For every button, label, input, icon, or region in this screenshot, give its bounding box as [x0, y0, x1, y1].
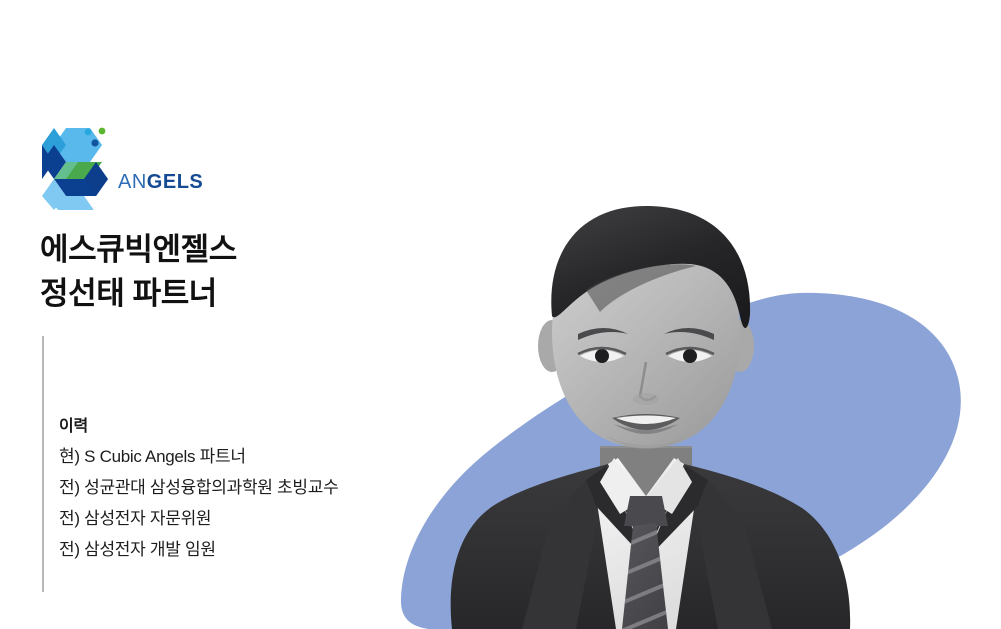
title-line-person: 정선태 파트너: [40, 272, 237, 316]
title-line-company: 에스큐빅엔젤스: [40, 228, 237, 272]
list-item: 전) 성균관대 삼성융합의과학원 초빙교수: [59, 473, 338, 504]
career-heading: 이력: [59, 412, 338, 436]
s-cubic-logo-icon: [40, 126, 110, 210]
list-item: 현) S Cubic Angels 파트너: [59, 442, 338, 473]
logo-wordmark-bold: GELS: [147, 171, 203, 193]
list-item: 전) 삼성전자 개발 임원: [59, 535, 338, 566]
speaker-profile-slide: ANGELS 에스큐빅엔젤스 정선태 파트너 이력 현) S Cubic Ang…: [0, 0, 1001, 629]
brand-logo: ANGELS: [40, 126, 203, 210]
page-title: 에스큐빅엔젤스 정선태 파트너: [40, 228, 237, 316]
career-list: 현) S Cubic Angels 파트너 전) 성균관대 삼성융합의과학원 초…: [59, 442, 338, 566]
logo-wordmark-light: AN: [118, 171, 147, 193]
logo-dot-cyan: [85, 129, 92, 136]
logo-dot-green: [99, 128, 106, 135]
speaker-portrait: [400, 196, 920, 629]
career-section: 이력 현) S Cubic Angels 파트너 전) 성균관대 삼성융합의과학…: [42, 336, 338, 592]
list-item: 전) 삼성전자 자문위원: [59, 504, 338, 535]
logo-dot-navy: [91, 139, 98, 146]
logo-wordmark: ANGELS: [118, 172, 203, 192]
